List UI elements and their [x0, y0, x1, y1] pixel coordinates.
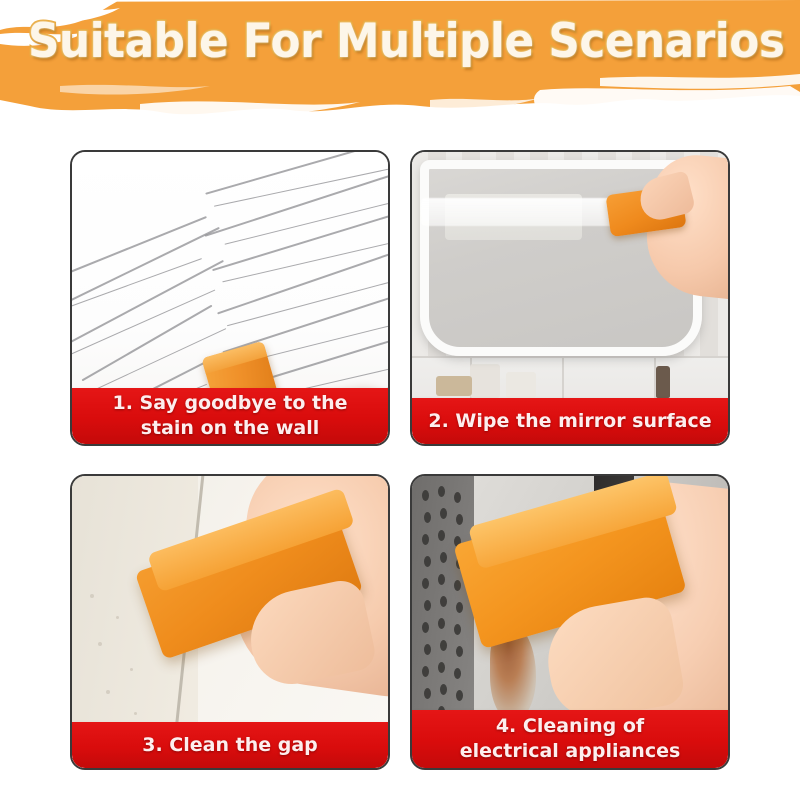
caption-bar-1: 1. Say goodbye to the stain on the wall: [72, 388, 388, 444]
caption-bar-2: 2. Wipe the mirror surface: [412, 398, 728, 444]
scenario-panel-grid: 1. Say goodbye to the stain on the wall: [70, 150, 730, 770]
scenario-panel-1: 1. Say goodbye to the stain on the wall: [70, 150, 390, 446]
scenario-panel-2: 2. Wipe the mirror surface: [410, 150, 730, 446]
caption-line: 1. Say goodbye to the: [112, 391, 347, 416]
caption-line: electrical appliances: [460, 739, 681, 764]
caption-bar-3: 3. Clean the gap: [72, 722, 388, 768]
page-title: Suitable For Multiple Scenarios: [28, 14, 772, 70]
container: [506, 372, 536, 398]
header-banner: Suitable For Multiple Scenarios: [0, 0, 800, 132]
scenario-panel-4: 4. Cleaning of electrical appliances: [410, 474, 730, 770]
dispenser: [656, 366, 670, 398]
soap-box: [470, 364, 500, 398]
brush: [436, 376, 472, 396]
caption-line: 3. Clean the gap: [142, 733, 318, 758]
caption-line: 2. Wipe the mirror surface: [428, 409, 711, 434]
scenario-panel-3: 3. Clean the gap: [70, 474, 390, 770]
caption-bar-4: 4. Cleaning of electrical appliances: [412, 710, 728, 768]
caption-line: stain on the wall: [112, 416, 347, 441]
caption-line: 4. Cleaning of: [460, 714, 681, 739]
